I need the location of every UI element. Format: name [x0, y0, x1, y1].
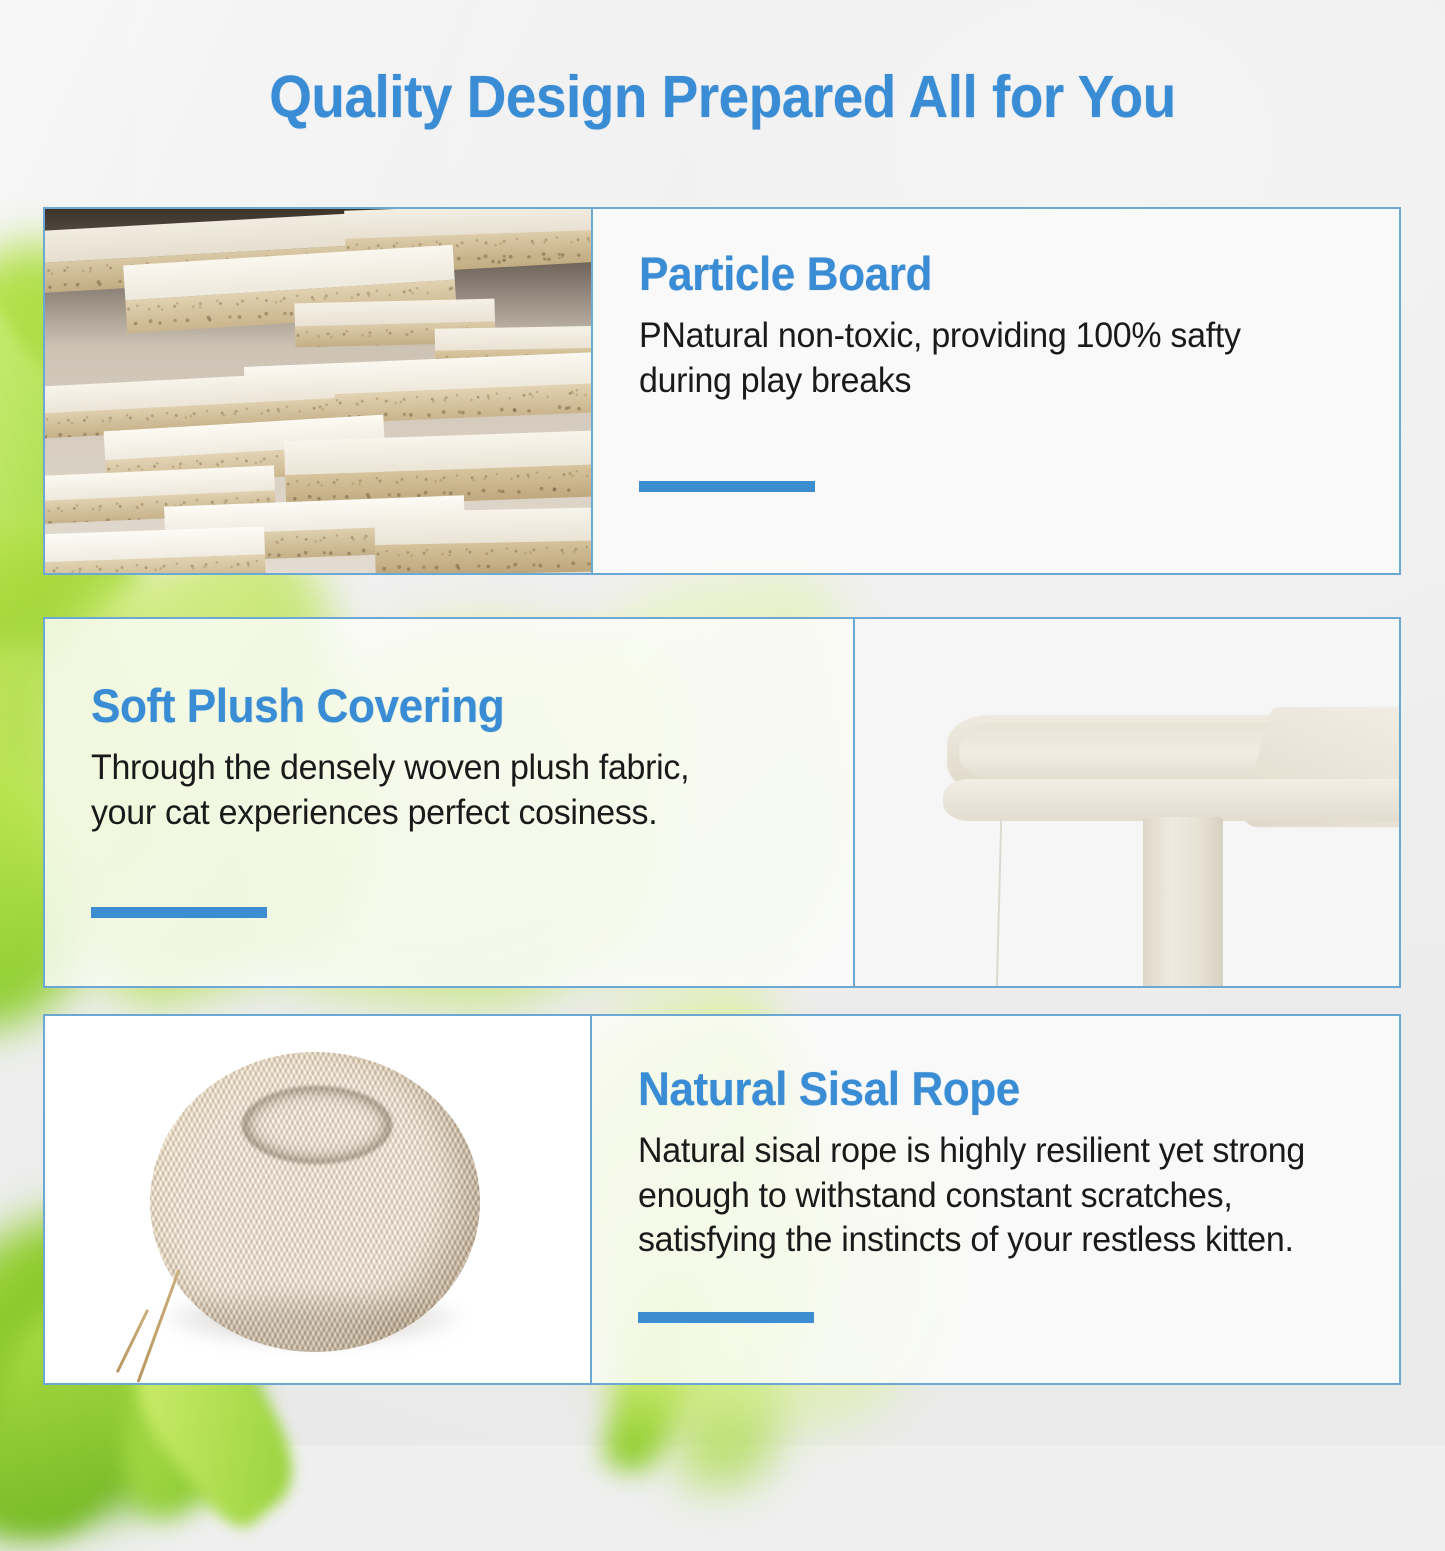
feature-card-particle-board: Particle Board PNatural non-toxic, provi… [43, 207, 1401, 575]
feature-card-soft-plush-covering: Soft Plush Covering Through the densely … [43, 617, 1401, 988]
feature-card-natural-sisal-rope: Natural Sisal Rope Natural sisal rope is… [43, 1014, 1401, 1385]
particle-board-image [45, 209, 591, 573]
accent-bar [639, 481, 815, 492]
accent-bar [638, 1312, 814, 1323]
card-heading: Soft Plush Covering [91, 681, 764, 732]
sisal-rope-text-panel: Natural Sisal Rope Natural sisal rope is… [592, 1016, 1399, 1383]
accent-bar [91, 907, 267, 918]
card-heading: Particle Board [639, 249, 1310, 300]
card-body-text: PNatural non-toxic, providing 100% safty… [639, 314, 1332, 404]
sisal-rope-image [45, 1016, 590, 1383]
card-body-text: Through the densely woven plush fabric, … [91, 746, 760, 836]
card-body-text: Natural sisal rope is highly resilient y… [638, 1129, 1332, 1263]
plush-perch-image [855, 619, 1399, 986]
soft-plush-text-panel: Soft Plush Covering Through the densely … [45, 619, 853, 986]
page-title: Quality Design Prepared All for You [51, 63, 1395, 131]
particle-board-text-panel: Particle Board PNatural non-toxic, provi… [593, 209, 1399, 573]
card-heading: Natural Sisal Rope [638, 1064, 1310, 1115]
